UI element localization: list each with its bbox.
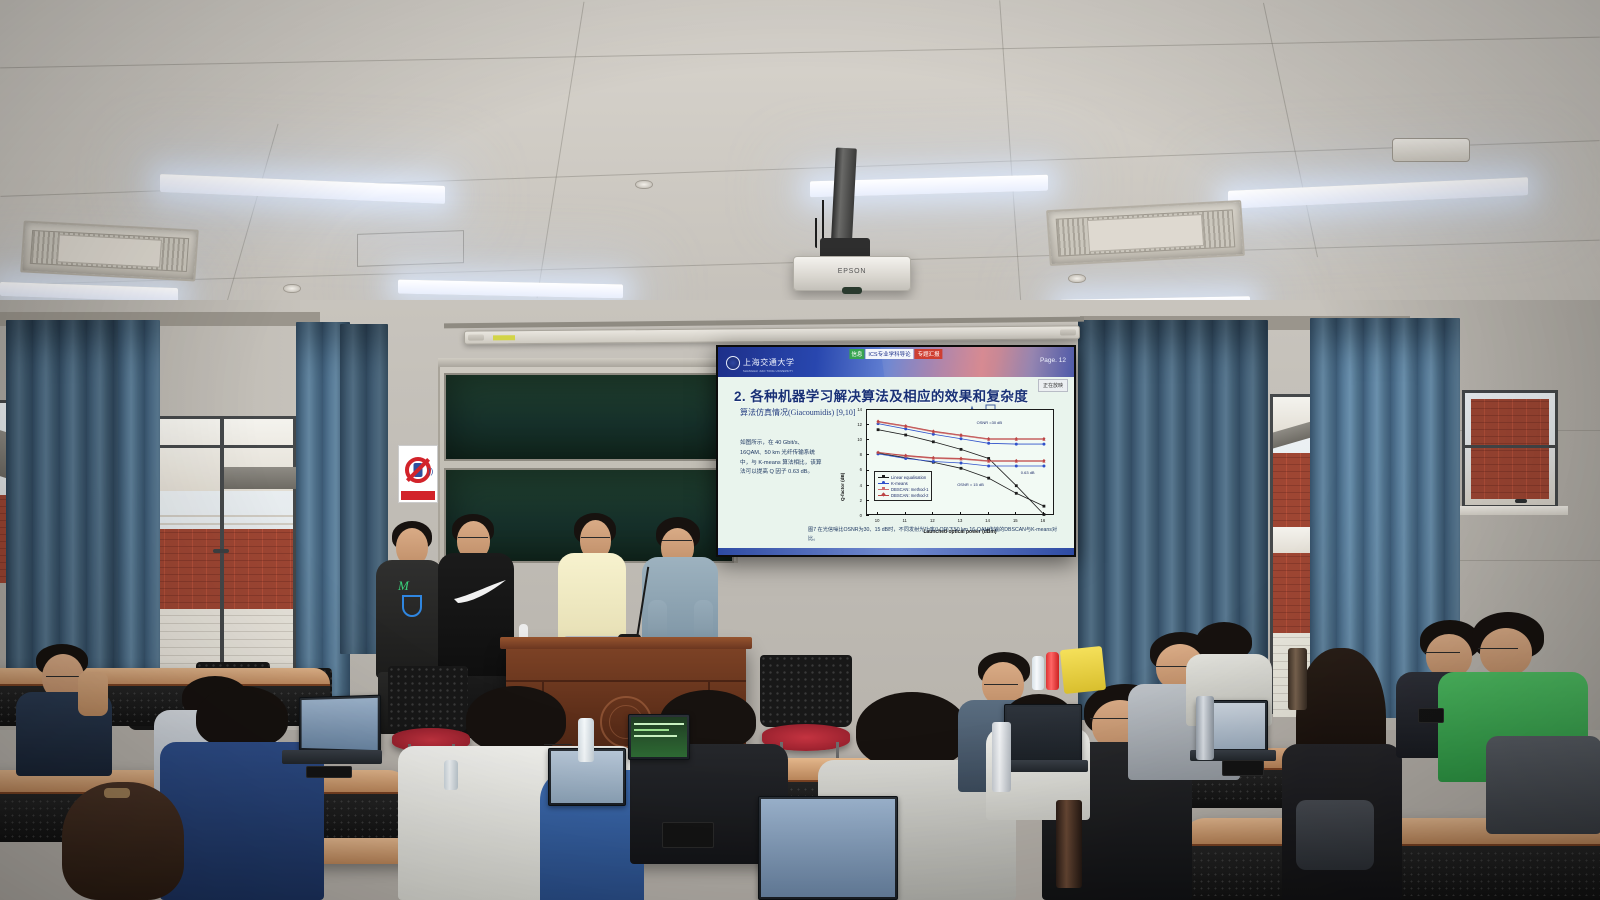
chart-x-tickmark (877, 512, 878, 515)
chart-legend: Linear equalisationK-meansDBSCAN: method… (874, 471, 932, 501)
water-bottle[interactable] (578, 718, 594, 762)
curtain-left-a (6, 320, 126, 690)
ceiling-light-panel (160, 174, 445, 204)
eyeglasses (984, 684, 1018, 687)
chart-x-tickmark (932, 512, 933, 515)
figure-q-factor-vs-power: 02468101214 10111213141516 Q-factor (dB)… (830, 405, 1070, 540)
swoosh-logo (452, 580, 508, 604)
chart-x-tickmark (1043, 512, 1044, 515)
eyeglasses (1424, 652, 1460, 655)
slide-footer-bar (718, 548, 1074, 555)
projector-lens (842, 287, 862, 294)
laptop-keyboard[interactable] (282, 750, 382, 764)
chart-x-tickmark (988, 512, 989, 515)
no-mobile-phone-sign: )) (398, 445, 438, 503)
projector: EPSON (793, 256, 911, 291)
chalkboard-upper (444, 373, 734, 461)
projection-tooltip: 正在放映 (1038, 379, 1068, 392)
chart-y-tickmark (866, 424, 869, 425)
chart-y-tick: 2 (848, 498, 862, 503)
smartphone[interactable] (1222, 760, 1264, 776)
classroom-photo: EPSON (0, 0, 1600, 900)
ceiling: EPSON (0, 0, 1600, 345)
chart-legend-label: DBSCAN: method-1 (891, 487, 928, 492)
window-left (148, 416, 296, 676)
curtain-left-b (118, 320, 160, 700)
window-right-small (1462, 390, 1558, 508)
chart-y-tick: 12 (848, 422, 862, 427)
chalk-tray (438, 358, 738, 367)
chart-legend-item: DBSCAN: method-2 (878, 492, 928, 498)
smartphone[interactable] (662, 822, 714, 848)
smoke-detector (635, 180, 653, 189)
chart-x-tick: 16 (1035, 518, 1051, 523)
slide-page-number: Page. 12 (1040, 357, 1066, 364)
chart-x-tickmark (905, 512, 906, 515)
chart-y-axis-label: Q-factor (dB) (840, 473, 845, 501)
slide-header-banner: 上海交通大学 SHANGHAI JIAO TONG UNIVERSITY 信息 … (718, 347, 1074, 377)
chart-legend-label: K-means (891, 481, 908, 486)
hair-tie (104, 788, 130, 798)
chart-y-tickmark (866, 454, 869, 455)
eyeglasses (1478, 648, 1518, 651)
ac-vent (1046, 200, 1245, 266)
chart-y-tick: 8 (848, 452, 862, 457)
ceiling-access-hatch (357, 230, 464, 267)
chart-y-tickmark (866, 409, 869, 410)
chart-y-tickmark (866, 485, 869, 486)
slide-header-chips: 信息 ICS专业学科导论 专题汇报 (849, 349, 942, 359)
chair[interactable] (388, 666, 468, 732)
ceiling-light-panel (1228, 177, 1528, 209)
snack-bag (1060, 646, 1106, 694)
eyeglasses (46, 676, 82, 679)
chip-green: 信息 (849, 349, 864, 359)
eyeglasses (458, 537, 488, 540)
thermos-bottle[interactable] (1056, 800, 1082, 888)
chart-x-tick: 12 (924, 518, 940, 523)
thermos-bottle[interactable] (1196, 696, 1214, 760)
chart-y-tick: 0 (848, 513, 862, 518)
ac-vent (20, 221, 199, 282)
laptop-screen[interactable] (1004, 704, 1082, 762)
chip-red: 专题汇报 (915, 349, 943, 359)
chart-legend-label: Linear equalisation (891, 475, 926, 480)
chart-y-tickmark (866, 439, 869, 440)
chart-x-tick: 10 (869, 518, 885, 523)
projector-brand-label: EPSON (794, 268, 910, 275)
chair[interactable] (760, 655, 852, 727)
backpack (1486, 736, 1600, 834)
chart-x-tick: 14 (980, 518, 996, 523)
smartphone[interactable] (1418, 708, 1444, 723)
chart-y-tick: 6 (848, 467, 862, 472)
window-sill-right (1452, 506, 1568, 515)
chart-y-tick: 10 (848, 437, 862, 442)
smoke-detector (1068, 274, 1086, 283)
chart-x-tick: 11 (897, 518, 913, 523)
chart-y-tickmark (866, 500, 869, 501)
laptop-screen[interactable] (628, 714, 690, 760)
chart-x-tick: 13 (952, 518, 968, 523)
chart-y-tick: 14 (848, 407, 862, 412)
ceiling-light-panel (398, 280, 623, 299)
chart-y-tick: 4 (848, 483, 862, 488)
eyeglasses (1090, 718, 1128, 721)
university-seal-icon (726, 356, 740, 370)
laptop-screen[interactable] (299, 695, 381, 754)
water-bottle[interactable] (1032, 656, 1044, 690)
eyeglasses (662, 540, 692, 543)
backpack (1296, 800, 1374, 870)
chart-x-tickmark (1015, 512, 1016, 515)
projector-cable (822, 200, 824, 240)
water-bottle[interactable] (444, 760, 458, 790)
chart-annotation: 0.63 dB (1021, 470, 1035, 475)
eyeglasses (581, 537, 610, 540)
chart-annotation: OSNR =30 dB (977, 420, 1002, 425)
projection-screen: 上海交通大学 SHANGHAI JIAO TONG UNIVERSITY 信息 … (716, 345, 1076, 557)
smoke-detector (283, 284, 301, 293)
smartphone[interactable] (306, 766, 352, 778)
ceiling-speaker (1392, 138, 1470, 162)
thermos-bottle[interactable] (992, 722, 1011, 792)
university-name-cn: 上海交通大学 (743, 358, 795, 367)
chart-annotation: OSNR = 15 dB (957, 482, 984, 487)
chart-legend-label: DBSCAN: method-2 (891, 493, 928, 498)
chart-x-tick: 15 (1007, 518, 1023, 523)
slide-note-text: 如图所示，在 40 Gbit/s、16QAM、50 km 光纤传输系统中，与 K… (740, 439, 826, 478)
projector-cable (815, 218, 817, 248)
slide-figure-caption: 图7 在光信噪比OSNR为30、15 dB时，不同发射光功率(LOP)下50 k… (808, 526, 1064, 543)
laptop-screen[interactable] (758, 796, 898, 900)
presentation-slide: 上海交通大学 SHANGHAI JIAO TONG UNIVERSITY 信息 … (718, 347, 1074, 555)
chip-white: ICS专业学科导论 (865, 349, 913, 359)
thermos-bottle[interactable] (1288, 648, 1307, 710)
water-bottle[interactable] (1046, 652, 1059, 690)
chart-y-tickmark (866, 470, 869, 471)
university-logo: 上海交通大学 SHANGHAI JIAO TONG UNIVERSITY (726, 352, 795, 373)
chart-x-tickmark (960, 512, 961, 515)
chart-y-tickmark (866, 515, 869, 516)
university-name-en: SHANGHAI JIAO TONG UNIVERSITY (743, 370, 795, 373)
